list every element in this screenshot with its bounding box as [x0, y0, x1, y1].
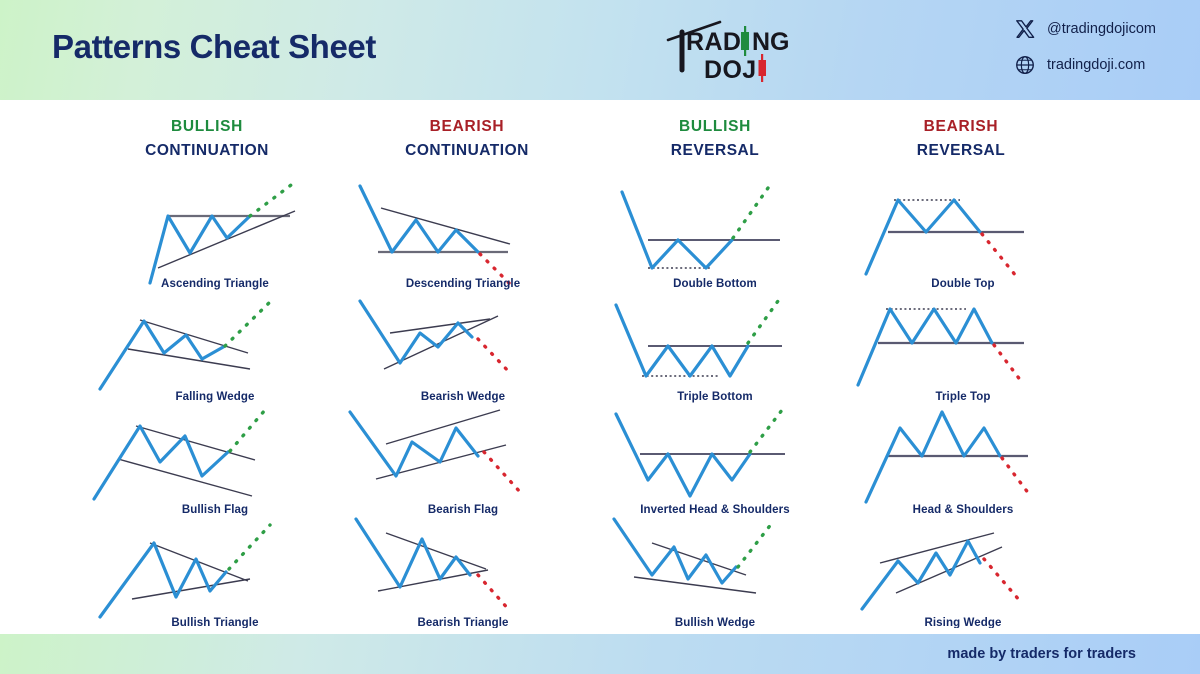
pattern-bearish-wedge: Bearish Wedge: [338, 291, 588, 404]
pattern-label: Head & Shoulders: [838, 504, 1088, 516]
social-link-website[interactable]: tradingdoji.com: [1014, 54, 1156, 76]
svg-text:DOJ: DOJ: [704, 56, 757, 84]
column-type-1: CONTINUATION: [87, 142, 327, 160]
pattern-triple-bottom: Triple Bottom: [590, 291, 840, 404]
pattern-grid: Ascending Triangle Falling Wedge: [0, 178, 1200, 630]
column-type-2: CONTINUATION: [347, 142, 587, 160]
x-twitter-icon: [1014, 18, 1036, 40]
column-heading-1: BULLISH CONTINUATION: [87, 118, 327, 160]
pattern-bearish-triangle: Bearish Triangle: [338, 517, 588, 630]
pattern-inverted-head-shoulders: Inverted Head & Shoulders: [590, 404, 840, 517]
pattern-bullish-wedge: Bullish Wedge: [590, 517, 840, 630]
column-kind-1: BULLISH: [87, 118, 327, 136]
pattern-label: Triple Top: [838, 391, 1088, 403]
pattern-double-bottom: Double Bottom: [590, 178, 840, 291]
column-kind-3: BULLISH: [595, 118, 835, 136]
cheat-sheet-page: Patterns Cheat Sheet RAD NG DOJ: [0, 0, 1200, 674]
pattern-bearish-flag: Bearish Flag: [338, 404, 588, 517]
pattern-rising-wedge: Rising Wedge: [838, 517, 1088, 630]
pattern-head-shoulders: Head & Shoulders: [838, 404, 1088, 517]
pattern-label: Descending Triangle: [338, 278, 588, 290]
footer-bar: made by traders for traders: [0, 634, 1200, 674]
header-bar: Patterns Cheat Sheet RAD NG DOJ: [0, 0, 1200, 100]
pattern-bullish-triangle: Bullish Triangle: [90, 517, 340, 630]
column-heading-4: BEARISH REVERSAL: [841, 118, 1081, 160]
pattern-label: Double Top: [838, 278, 1088, 290]
pattern-label: Triple Bottom: [590, 391, 840, 403]
globe-icon: [1014, 54, 1036, 76]
column-type-4: REVERSAL: [841, 142, 1081, 160]
pattern-label: Bullish Flag: [90, 504, 340, 516]
pattern-triple-top: Triple Top: [838, 291, 1088, 404]
footer-text: made by traders for traders: [947, 646, 1136, 662]
pattern-double-top: Double Top: [838, 178, 1088, 291]
social-handle-x: @tradingdojicom: [1047, 21, 1156, 37]
pattern-descending-triangle: Descending Triangle: [338, 178, 588, 291]
pattern-bullish-flag: Bullish Flag: [90, 404, 340, 517]
svg-text:RAD: RAD: [686, 28, 741, 56]
pattern-label: Ascending Triangle: [90, 278, 340, 290]
social-handle-website: tradingdoji.com: [1047, 57, 1145, 73]
column-type-3: REVERSAL: [595, 142, 835, 160]
column-heading-3: BULLISH REVERSAL: [595, 118, 835, 160]
pattern-label: Falling Wedge: [90, 391, 340, 403]
pattern-label: Double Bottom: [590, 278, 840, 290]
social-links: @tradingdojicom tradingdoji.com: [1014, 18, 1156, 76]
pattern-label: Inverted Head & Shoulders: [590, 504, 840, 516]
pattern-falling-wedge: Falling Wedge: [90, 291, 340, 404]
column-kind-4: BEARISH: [841, 118, 1081, 136]
column-heading-2: BEARISH CONTINUATION: [347, 118, 587, 160]
social-link-x[interactable]: @tradingdojicom: [1014, 18, 1156, 40]
column-kind-2: BEARISH: [347, 118, 587, 136]
column-headings: BULLISH CONTINUATION BEARISH CONTINUATIO…: [0, 118, 1200, 178]
pattern-label: Bearish Wedge: [338, 391, 588, 403]
pattern-ascending-triangle: Ascending Triangle: [90, 178, 340, 291]
page-title: Patterns Cheat Sheet: [52, 28, 376, 66]
svg-text:NG: NG: [752, 28, 790, 56]
trading-doji-logo: RAD NG DOJ: [660, 14, 790, 86]
pattern-label: Bearish Flag: [338, 504, 588, 516]
